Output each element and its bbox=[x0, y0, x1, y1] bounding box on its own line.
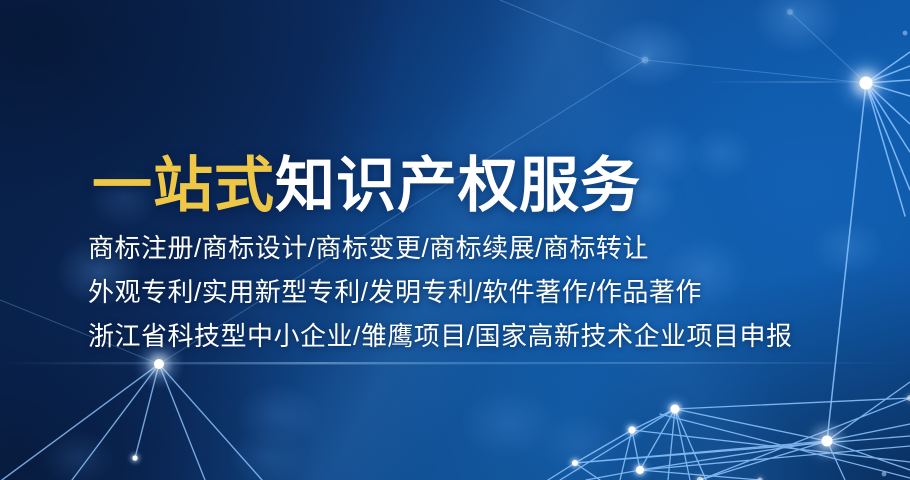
service-line: 外观专利/实用新型专利/发明专利/软件著作/作品著作 bbox=[88, 270, 792, 314]
service-line: 浙江省科技型中小企业/雏鹰项目/国家高新技术企业项目申报 bbox=[88, 314, 792, 358]
headline-highlight: 一站式 bbox=[92, 152, 275, 219]
page-title: 一站式知识产权服务 bbox=[92, 156, 641, 216]
service-line: 商标注册/商标设计/商标变更/商标续展/商标转让 bbox=[88, 226, 792, 270]
banner-content: 一站式知识产权服务 商标注册/商标设计/商标变更/商标续展/商标转让 外观专利/… bbox=[88, 0, 848, 480]
service-list: 商标注册/商标设计/商标变更/商标续展/商标转让 外观专利/实用新型专利/发明专… bbox=[88, 226, 792, 358]
headline-rest: 知识产权服务 bbox=[275, 152, 641, 219]
promo-banner: 一站式知识产权服务 商标注册/商标设计/商标变更/商标续展/商标转让 外观专利/… bbox=[0, 0, 910, 480]
